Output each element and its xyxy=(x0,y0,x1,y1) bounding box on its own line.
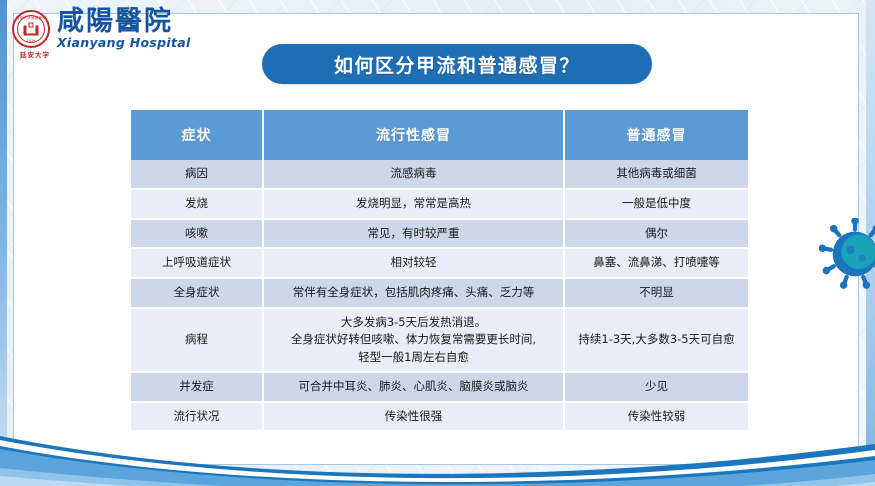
table-row: 咳嗽常见，有时较严重偶尔 xyxy=(131,219,748,249)
hospital-emblem-icon: 延安大学咸阳医院 1939 xyxy=(12,10,50,48)
table-row: 发烧发烧明显，常常是高热一般是低中度 xyxy=(131,189,748,219)
logo-wordmark: 咸陽醫院 Xianyang Hospital xyxy=(57,8,191,50)
comparison-table: 症状 流行性感冒 普通感冒 病因流感病毒其他病毒或细菌发烧发烧明显，常常是高热一… xyxy=(131,110,748,432)
cell-symptom: 病因 xyxy=(131,160,263,189)
left-accent-stripe xyxy=(0,0,7,486)
cell-common-cold: 持续1-3天,大多数3-5天可自愈 xyxy=(564,308,748,372)
bottom-wave-decoration xyxy=(0,416,875,486)
cell-symptom: 病程 xyxy=(131,308,263,372)
cell-influenza: 发烧明显，常常是高热 xyxy=(263,189,564,219)
table-header-row: 症状 流行性感冒 普通感冒 xyxy=(131,110,748,160)
table-row: 并发症可合并中耳炎、肺炎、心肌炎、脑膜炎或脑炎少见 xyxy=(131,372,748,402)
cell-symptom: 并发症 xyxy=(131,372,263,402)
cell-symptom: 发烧 xyxy=(131,189,263,219)
table-row: 全身症状常伴有全身症状，包括肌肉疼痛、头痛、乏力等不明显 xyxy=(131,278,748,308)
table-row: 病因流感病毒其他病毒或细菌 xyxy=(131,160,748,189)
slide-canvas: 延安大学咸阳医院 1939 咸陽醫院 Xianyang Hospital 延安大… xyxy=(0,0,875,486)
cell-symptom: 全身症状 xyxy=(131,278,263,308)
cell-common-cold: 偶尔 xyxy=(564,219,748,249)
cell-symptom: 咳嗽 xyxy=(131,219,263,249)
emblem-bottom-text: 1939 xyxy=(27,39,36,43)
table-row: 病程大多发病3-5天后发热消退。全身症状好转但咳嗽、体力恢复常需要更长时间,轻型… xyxy=(131,308,748,372)
cell-common-cold: 一般是低中度 xyxy=(564,189,748,219)
column-header-common-cold: 普通感冒 xyxy=(564,110,748,160)
cell-common-cold: 少见 xyxy=(564,372,748,402)
virus-icon xyxy=(819,218,875,290)
logo-name-cn: 咸陽醫院 xyxy=(57,8,191,35)
emblem-mark-icon xyxy=(24,23,39,36)
column-header-symptom: 症状 xyxy=(131,110,263,160)
emblem-top-text: 延安大学咸阳医院 xyxy=(16,16,46,21)
hospital-logo: 延安大学咸阳医院 1939 咸陽醫院 Xianyang Hospital 延安大… xyxy=(12,8,191,50)
cell-influenza: 流感病毒 xyxy=(263,160,564,189)
cell-influenza: 大多发病3-5天后发热消退。全身症状好转但咳嗽、体力恢复常需要更长时间,轻型一般… xyxy=(263,308,564,372)
cell-influenza: 相对较轻 xyxy=(263,248,564,278)
table-row: 上呼吸道症状相对较轻鼻塞、流鼻涕、打喷嚏等 xyxy=(131,248,748,278)
page-title: 如何区分甲流和普通感冒？ xyxy=(334,51,580,78)
cell-common-cold: 其他病毒或细菌 xyxy=(564,160,748,189)
title-banner: 如何区分甲流和普通感冒？ xyxy=(262,44,652,84)
logo-name-en: Xianyang Hospital xyxy=(57,37,191,50)
column-header-influenza: 流行性感冒 xyxy=(263,110,564,160)
logo-university-text: 延安大学 xyxy=(20,49,50,59)
cell-common-cold: 不明显 xyxy=(564,278,748,308)
table-body: 病因流感病毒其他病毒或细菌发烧发烧明显，常常是高热一般是低中度咳嗽常见，有时较严… xyxy=(131,160,748,431)
cell-common-cold: 鼻塞、流鼻涕、打喷嚏等 xyxy=(564,248,748,278)
cell-influenza: 常见，有时较严重 xyxy=(263,219,564,249)
cell-influenza: 常伴有全身症状，包括肌肉疼痛、头痛、乏力等 xyxy=(263,278,564,308)
cell-influenza: 可合并中耳炎、肺炎、心肌炎、脑膜炎或脑炎 xyxy=(263,372,564,402)
cell-symptom: 上呼吸道症状 xyxy=(131,248,263,278)
